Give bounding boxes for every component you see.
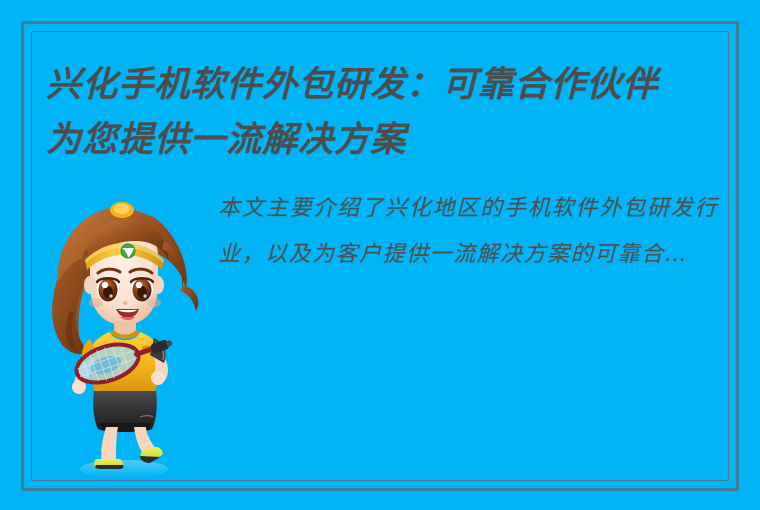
ground-reflection [80,460,168,478]
page-title: 兴化手机软件外包研发：可靠合作伙伴 为您提供一流解决方案 [46,58,726,168]
mascot-illustration [36,193,206,483]
article-summary: 本文主要介绍了兴化地区的手机软件外包研发行业，以及为客户提供一流解决方案的可靠合… [218,186,718,278]
promo-banner: 兴化手机软件外包研发：可靠合作伙伴 为您提供一流解决方案 本文主要介绍了兴化地区… [0,0,760,510]
hair-tie [110,202,134,218]
ball-emblem [121,244,135,258]
mascot-svg [36,193,206,483]
